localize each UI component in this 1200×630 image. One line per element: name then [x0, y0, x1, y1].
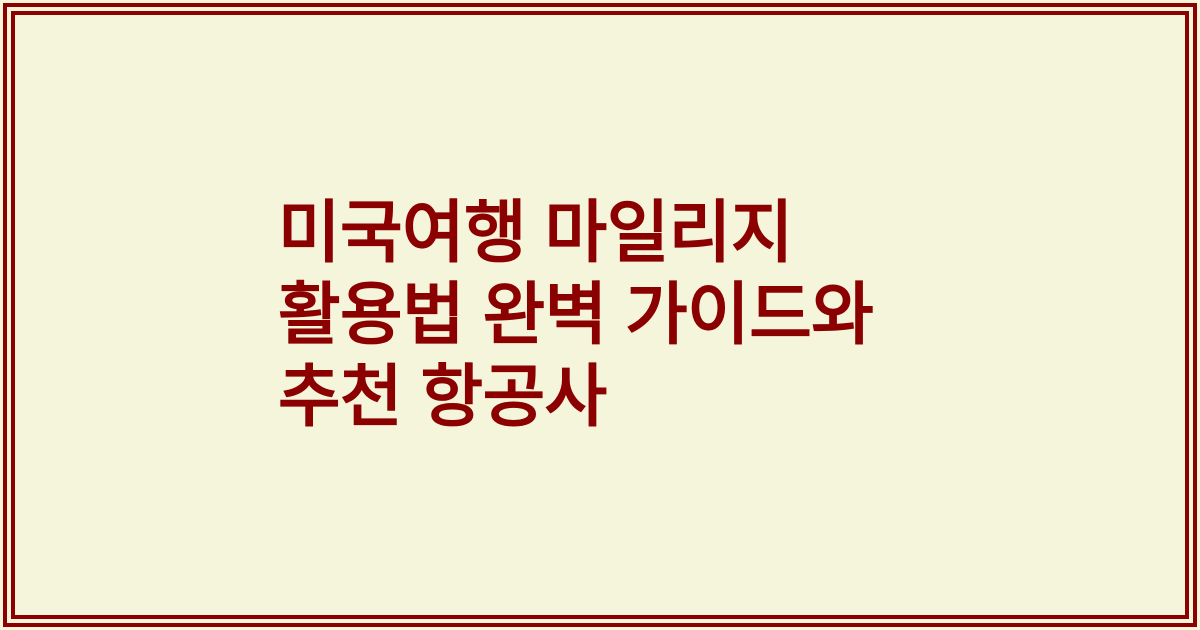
page-title: 미국여행 마일리지 활용법 완벽 가이드와 추천 항공사 — [278, 192, 873, 438]
thumbnail-card: 미국여행 마일리지 활용법 완벽 가이드와 추천 항공사 — [0, 0, 1200, 630]
title-line-2: 활용법 완벽 가이드와 — [278, 274, 873, 356]
title-line-1: 미국여행 마일리지 — [278, 192, 873, 274]
title-line-3: 추천 항공사 — [278, 356, 873, 438]
content-area: 미국여행 마일리지 활용법 완벽 가이드와 추천 항공사 — [0, 0, 1200, 630]
